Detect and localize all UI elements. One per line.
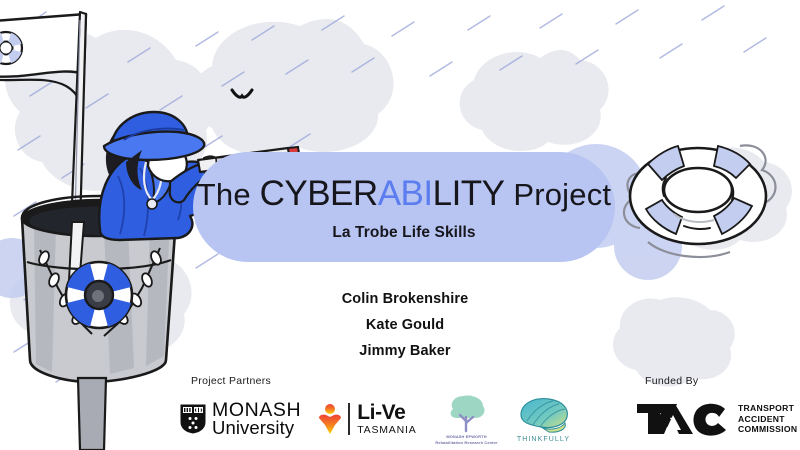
- live-wordmark: Li-Ve TASMANIA: [357, 402, 416, 436]
- flag: [0, 12, 86, 300]
- logo-thinkfully: THINKFULLY: [515, 395, 573, 443]
- leaf-icon: [515, 395, 573, 435]
- presenter-name: Colin Brokenshire: [240, 286, 570, 312]
- funder-logo-row: TRANSPORT ACCIDENT COMMISSION: [637, 390, 797, 448]
- project-partners-label: Project Partners: [191, 375, 271, 387]
- live-line2: TASMANIA: [357, 425, 416, 436]
- seagull-icon: [232, 90, 252, 97]
- monash-crest-icon: [180, 404, 206, 434]
- thinkfully-caption: THINKFULLY: [517, 436, 570, 443]
- title-highlight-ability: ABI: [378, 174, 433, 213]
- tac-line2: ACCIDENT: [738, 414, 797, 425]
- logo-monash-epworth: MONASH EPWORTH Rehabilitation Research C…: [431, 393, 503, 444]
- presentation-slide: The CYBERABILITY Project La Trobe Life S…: [0, 0, 800, 450]
- live-line1: Li-Ve: [357, 402, 416, 423]
- title-banner: The CYBERABILITY Project La Trobe Life S…: [193, 152, 615, 262]
- large-lifering-icon: [624, 145, 776, 257]
- monash-line2: University: [212, 419, 301, 437]
- page-subtitle: La Trobe Life Skills: [332, 224, 475, 242]
- funded-by-label: Funded By: [645, 375, 698, 387]
- logo-live-tasmania: Li-Ve TASMANIA: [317, 402, 416, 436]
- barrel-lifering-icon: [66, 262, 132, 328]
- title-suffix: Project: [505, 177, 612, 212]
- title-prefix: The: [197, 177, 260, 212]
- presenter-list: Colin Brokenshire Kate Gould Jimmy Baker: [240, 286, 570, 364]
- tree-icon: [443, 393, 491, 433]
- logo-tac: TRANSPORT ACCIDENT COMMISSION: [637, 402, 797, 436]
- live-person-icon: [317, 403, 343, 435]
- monash-epworth-caption: MONASH EPWORTH Rehabilitation Research C…: [431, 434, 503, 444]
- tac-wordmark-icon: [637, 402, 729, 436]
- flag-lifering-emblem: [0, 32, 22, 64]
- presenter-name: Kate Gould: [240, 312, 570, 338]
- presenter-name: Jimmy Baker: [240, 338, 570, 364]
- live-divider: [348, 403, 350, 435]
- title-cyber: CYBER: [260, 174, 378, 213]
- slide-footer: Project Partners Funded By: [0, 372, 800, 450]
- monash-epworth-caption-line2: Rehabilitation Research Centre: [431, 440, 503, 445]
- tac-fullname: TRANSPORT ACCIDENT COMMISSION: [738, 403, 797, 435]
- partner-logo-row: MONASH University Li-Ve TASMANIA: [180, 390, 573, 448]
- logo-monash-university: MONASH University: [180, 401, 301, 437]
- page-title: The CYBERABILITY Project: [197, 176, 611, 211]
- monash-wordmark: MONASH University: [212, 401, 301, 437]
- tac-line1: TRANSPORT: [738, 403, 797, 414]
- barrel-chains: [37, 248, 163, 336]
- tac-line3: COMMISSION: [738, 424, 797, 435]
- title-lity: LITY: [433, 174, 505, 213]
